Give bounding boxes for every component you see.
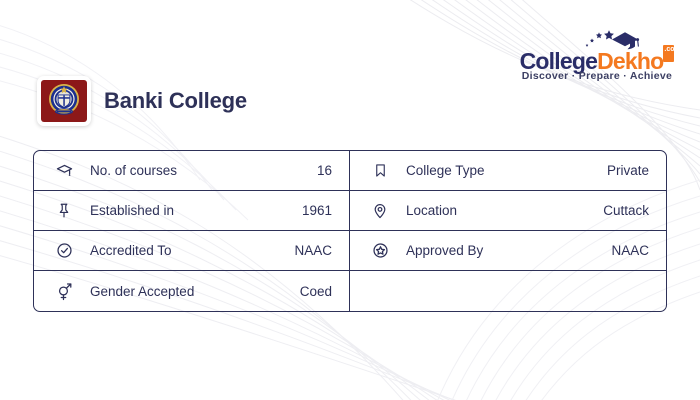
bookmark-icon — [368, 162, 392, 179]
college-logo-badge — [37, 76, 91, 126]
row-value: NAAC — [294, 243, 332, 258]
brand-dotcom-badge: .com — [663, 45, 674, 62]
table-row-location: Location Cuttack — [350, 191, 666, 231]
graduation-cap-icon — [52, 162, 76, 179]
row-label: No. of courses — [76, 163, 317, 178]
collegedekho-brand-logo[interactable]: CollegeDekho.com Discover · Prepare · Ac… — [512, 22, 682, 84]
row-value: Coed — [300, 284, 332, 299]
facts-column-right: College Type Private Location Cuttack — [350, 151, 666, 311]
brand-tagline: Discover · Prepare · Achieve — [512, 70, 682, 82]
table-row-gender-accepted: Gender Accepted Coed — [34, 271, 349, 311]
row-label: Gender Accepted — [76, 284, 300, 299]
row-value: Private — [607, 163, 649, 178]
map-pin-icon — [368, 202, 392, 220]
row-label: Approved By — [392, 243, 611, 258]
row-value: 16 — [317, 163, 332, 178]
table-row-college-type: College Type Private — [350, 151, 666, 191]
page-title: Banki College — [104, 88, 247, 114]
table-row-approved-by: Approved By NAAC — [350, 231, 666, 271]
check-circle-icon — [52, 242, 76, 259]
crest-svg — [44, 82, 84, 120]
row-value: 1961 — [302, 203, 332, 218]
table-row-no-of-courses: No. of courses 16 — [34, 151, 349, 191]
table-row-accredited-to: Accredited To NAAC — [34, 231, 349, 271]
row-value: NAAC — [611, 243, 649, 258]
gender-icon — [52, 282, 76, 301]
row-label: Location — [392, 203, 603, 218]
college-crest-emblem-icon — [41, 80, 87, 122]
college-facts-table: No. of courses 16 Established in 1961 — [33, 150, 667, 312]
row-label: College Type — [392, 163, 607, 178]
facts-column-left: No. of courses 16 Established in 1961 — [34, 151, 350, 311]
facts-column-right-spacer — [350, 271, 666, 311]
college-info-card: Banki College CollegeDekho.com Discover … — [0, 0, 700, 400]
row-label: Established in — [76, 203, 302, 218]
pin-icon — [52, 202, 76, 219]
card-header: Banki College CollegeDekho.com Discover … — [0, 0, 700, 145]
row-label: Accredited To — [76, 243, 294, 258]
row-value: Cuttack — [603, 203, 649, 218]
table-row-established-in: Established in 1961 — [34, 191, 349, 231]
award-star-icon — [368, 242, 392, 259]
